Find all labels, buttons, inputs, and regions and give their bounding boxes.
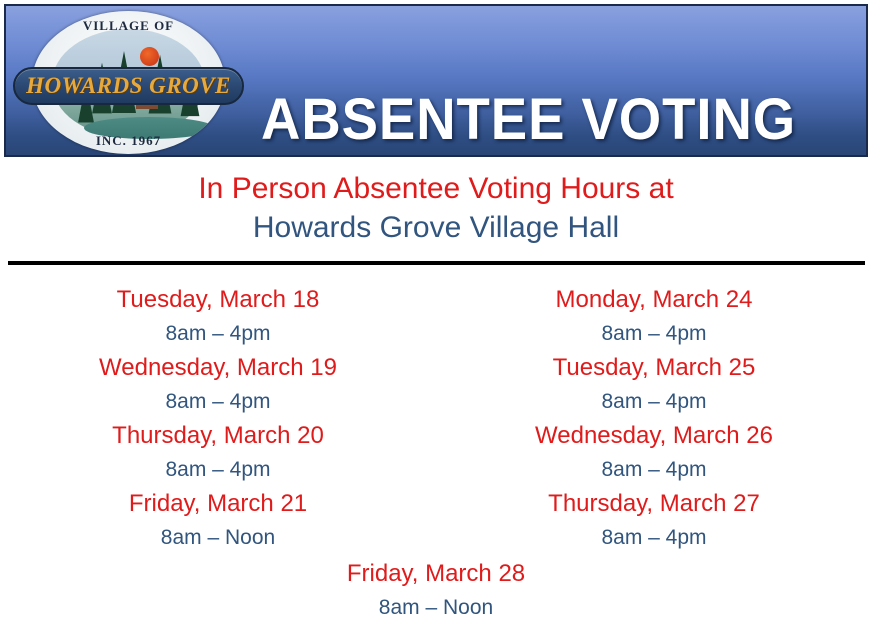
seal-ribbon-label: HOWARDS GROVE [26,73,231,99]
village-seal-logo: VILLAGE OF INC. 1967 HOWARDS GROVE [32,11,225,154]
seal-arc-bottom-label: INC. 1967 [96,133,161,149]
schedule-day: Tuesday, March 25 [436,351,872,385]
page-title-line1: In Person Absentee Voting Hours at [0,170,872,208]
schedule-time: 8am – 4pm [436,521,872,555]
schedule-time: 8am – Noon [0,591,872,625]
schedule-final-entry: Friday, March 28 8am – Noon [0,557,872,625]
schedule-left-column: Tuesday, March 18 8am – 4pm Wednesday, M… [0,283,436,555]
seal-arc-bottom-text: INC. 1967 [32,132,225,150]
schedule-time: 8am – Noon [0,521,436,555]
schedule-day: Friday, March 21 [0,487,436,521]
schedule-time: 8am – 4pm [0,385,436,419]
page-banner: VILLAGE OF INC. 1967 HOWARDS GROVE ABSEN… [4,4,868,157]
schedule-columns: Tuesday, March 18 8am – 4pm Wednesday, M… [0,283,872,555]
schedule-day: Friday, March 28 [0,557,872,591]
seal-arc-top-label: VILLAGE OF [83,18,174,34]
schedule-right-column: Monday, March 24 8am – 4pm Tuesday, Marc… [436,283,872,555]
seal-arc-top-text: VILLAGE OF [32,17,225,35]
horizontal-divider [8,261,865,265]
schedule-day: Wednesday, March 26 [436,419,872,453]
schedule-day: Thursday, March 20 [0,419,436,453]
schedule-day: Tuesday, March 18 [0,283,436,317]
banner-title: ABSENTEE VOTING [261,91,825,149]
schedule-day: Monday, March 24 [436,283,872,317]
schedule-day: Wednesday, March 19 [0,351,436,385]
schedule-day: Thursday, March 27 [436,487,872,521]
heading-block: In Person Absentee Voting Hours at Howar… [0,170,872,248]
seal-ribbon: HOWARDS GROVE [13,67,244,105]
schedule-time: 8am – 4pm [436,453,872,487]
schedule-time: 8am – 4pm [436,385,872,419]
schedule-time: 8am – 4pm [436,317,872,351]
schedule-time: 8am – 4pm [0,317,436,351]
schedule-time: 8am – 4pm [0,453,436,487]
page-title-line2: Howards Grove Village Hall [0,208,872,248]
